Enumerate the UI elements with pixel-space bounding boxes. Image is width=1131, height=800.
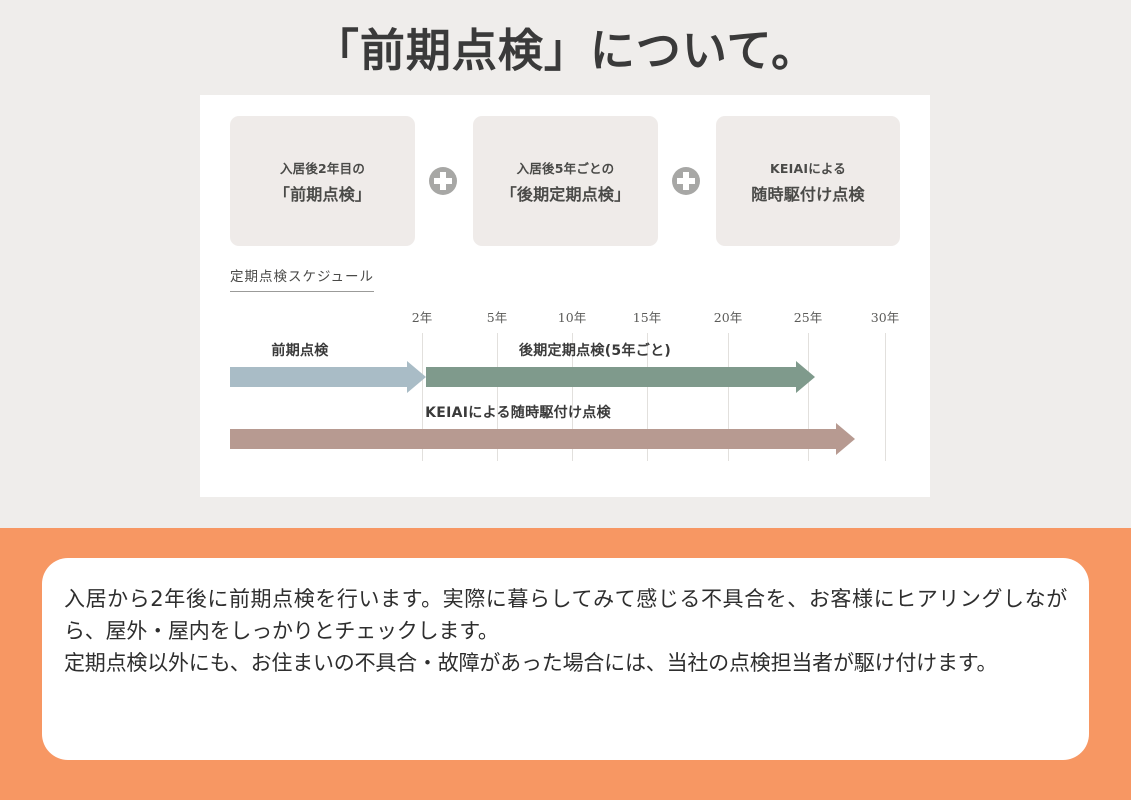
plus-icon — [672, 167, 700, 195]
timeline-bar-label-periodic-inspection: 後期定期点検(5年ごと) — [519, 340, 671, 360]
schedule-timeline: 2年5年10年15年20年25年30年前期点検後期定期点検(5年ごと)KEIAI… — [200, 307, 930, 467]
timeline-tick-label: 25年 — [794, 307, 822, 326]
inspection-diagram-panel: 入居後2年目の 「前期点検」 入居後5年ごとの 「後期定期点検」 KEIAIによ… — [200, 95, 930, 497]
timeline-tick-label: 15年 — [633, 307, 661, 326]
timeline-tick-label: 20年 — [714, 307, 742, 326]
description-paragraph-1: 入居から2年後に前期点検を行います。実際に暮らしてみて感じる不具合を、お客様にヒ… — [64, 584, 1067, 648]
arrow-head — [407, 361, 426, 393]
schedule-heading: 定期点検スケジュール — [230, 265, 374, 292]
timeline-bar-label-oncall-inspection: KEIAIによる随時駆付け点検 — [425, 402, 611, 422]
page-title: 「前期点検」について。 — [0, 14, 1131, 79]
timeline-tick-label: 2年 — [412, 307, 432, 326]
timeline-arrow-oncall-inspection — [230, 429, 855, 449]
description-card: 入居から2年後に前期点検を行います。実際に暮らしてみて感じる不具合を、お客様にヒ… — [42, 558, 1089, 760]
timeline-tick-label: 10年 — [558, 307, 586, 326]
arrow-head — [836, 423, 855, 455]
timeline-arrow-periodic-inspection — [426, 367, 815, 387]
top-section: 「前期点検」について。 入居後2年目の 「前期点検」 入居後5年ごとの 「後期定… — [0, 0, 1131, 528]
inspection-box-oncall-line2: 随時駆付け点検 — [751, 181, 864, 205]
description-paragraph-2: 定期点検以外にも、お住まいの不具合・故障があった場合には、当社の点検担当者が駆け… — [64, 648, 1067, 680]
timeline-tick-label: 30年 — [871, 307, 899, 326]
inspection-box-oncall-line1: KEIAIによる — [770, 158, 846, 177]
timeline-arrow-early-inspection — [230, 367, 426, 387]
arrow-shaft — [230, 429, 837, 449]
arrow-head — [796, 361, 815, 393]
inspection-box-early-line1: 入居後2年目の — [280, 158, 365, 177]
arrow-shaft — [426, 367, 797, 387]
inspection-types-row: 入居後2年目の 「前期点検」 入居後5年ごとの 「後期定期点検」 KEIAIによ… — [230, 116, 900, 246]
inspection-box-periodic-line2: 「後期定期点検」 — [501, 181, 631, 205]
arrow-shaft — [230, 367, 408, 387]
inspection-box-oncall[interactable]: KEIAIによる 随時駆付け点検 — [716, 116, 900, 246]
timeline-grid-line — [885, 333, 886, 461]
timeline-tick-label: 5年 — [487, 307, 507, 326]
inspection-box-early-line2: 「前期点検」 — [274, 181, 371, 205]
inspection-box-periodic[interactable]: 入居後5年ごとの 「後期定期点検」 — [473, 116, 658, 246]
inspection-box-periodic-line1: 入居後5年ごとの — [517, 158, 615, 177]
plus-icon — [429, 167, 457, 195]
inspection-box-early[interactable]: 入居後2年目の 「前期点検」 — [230, 116, 415, 246]
timeline-bar-label-early-inspection: 前期点検 — [271, 340, 328, 360]
